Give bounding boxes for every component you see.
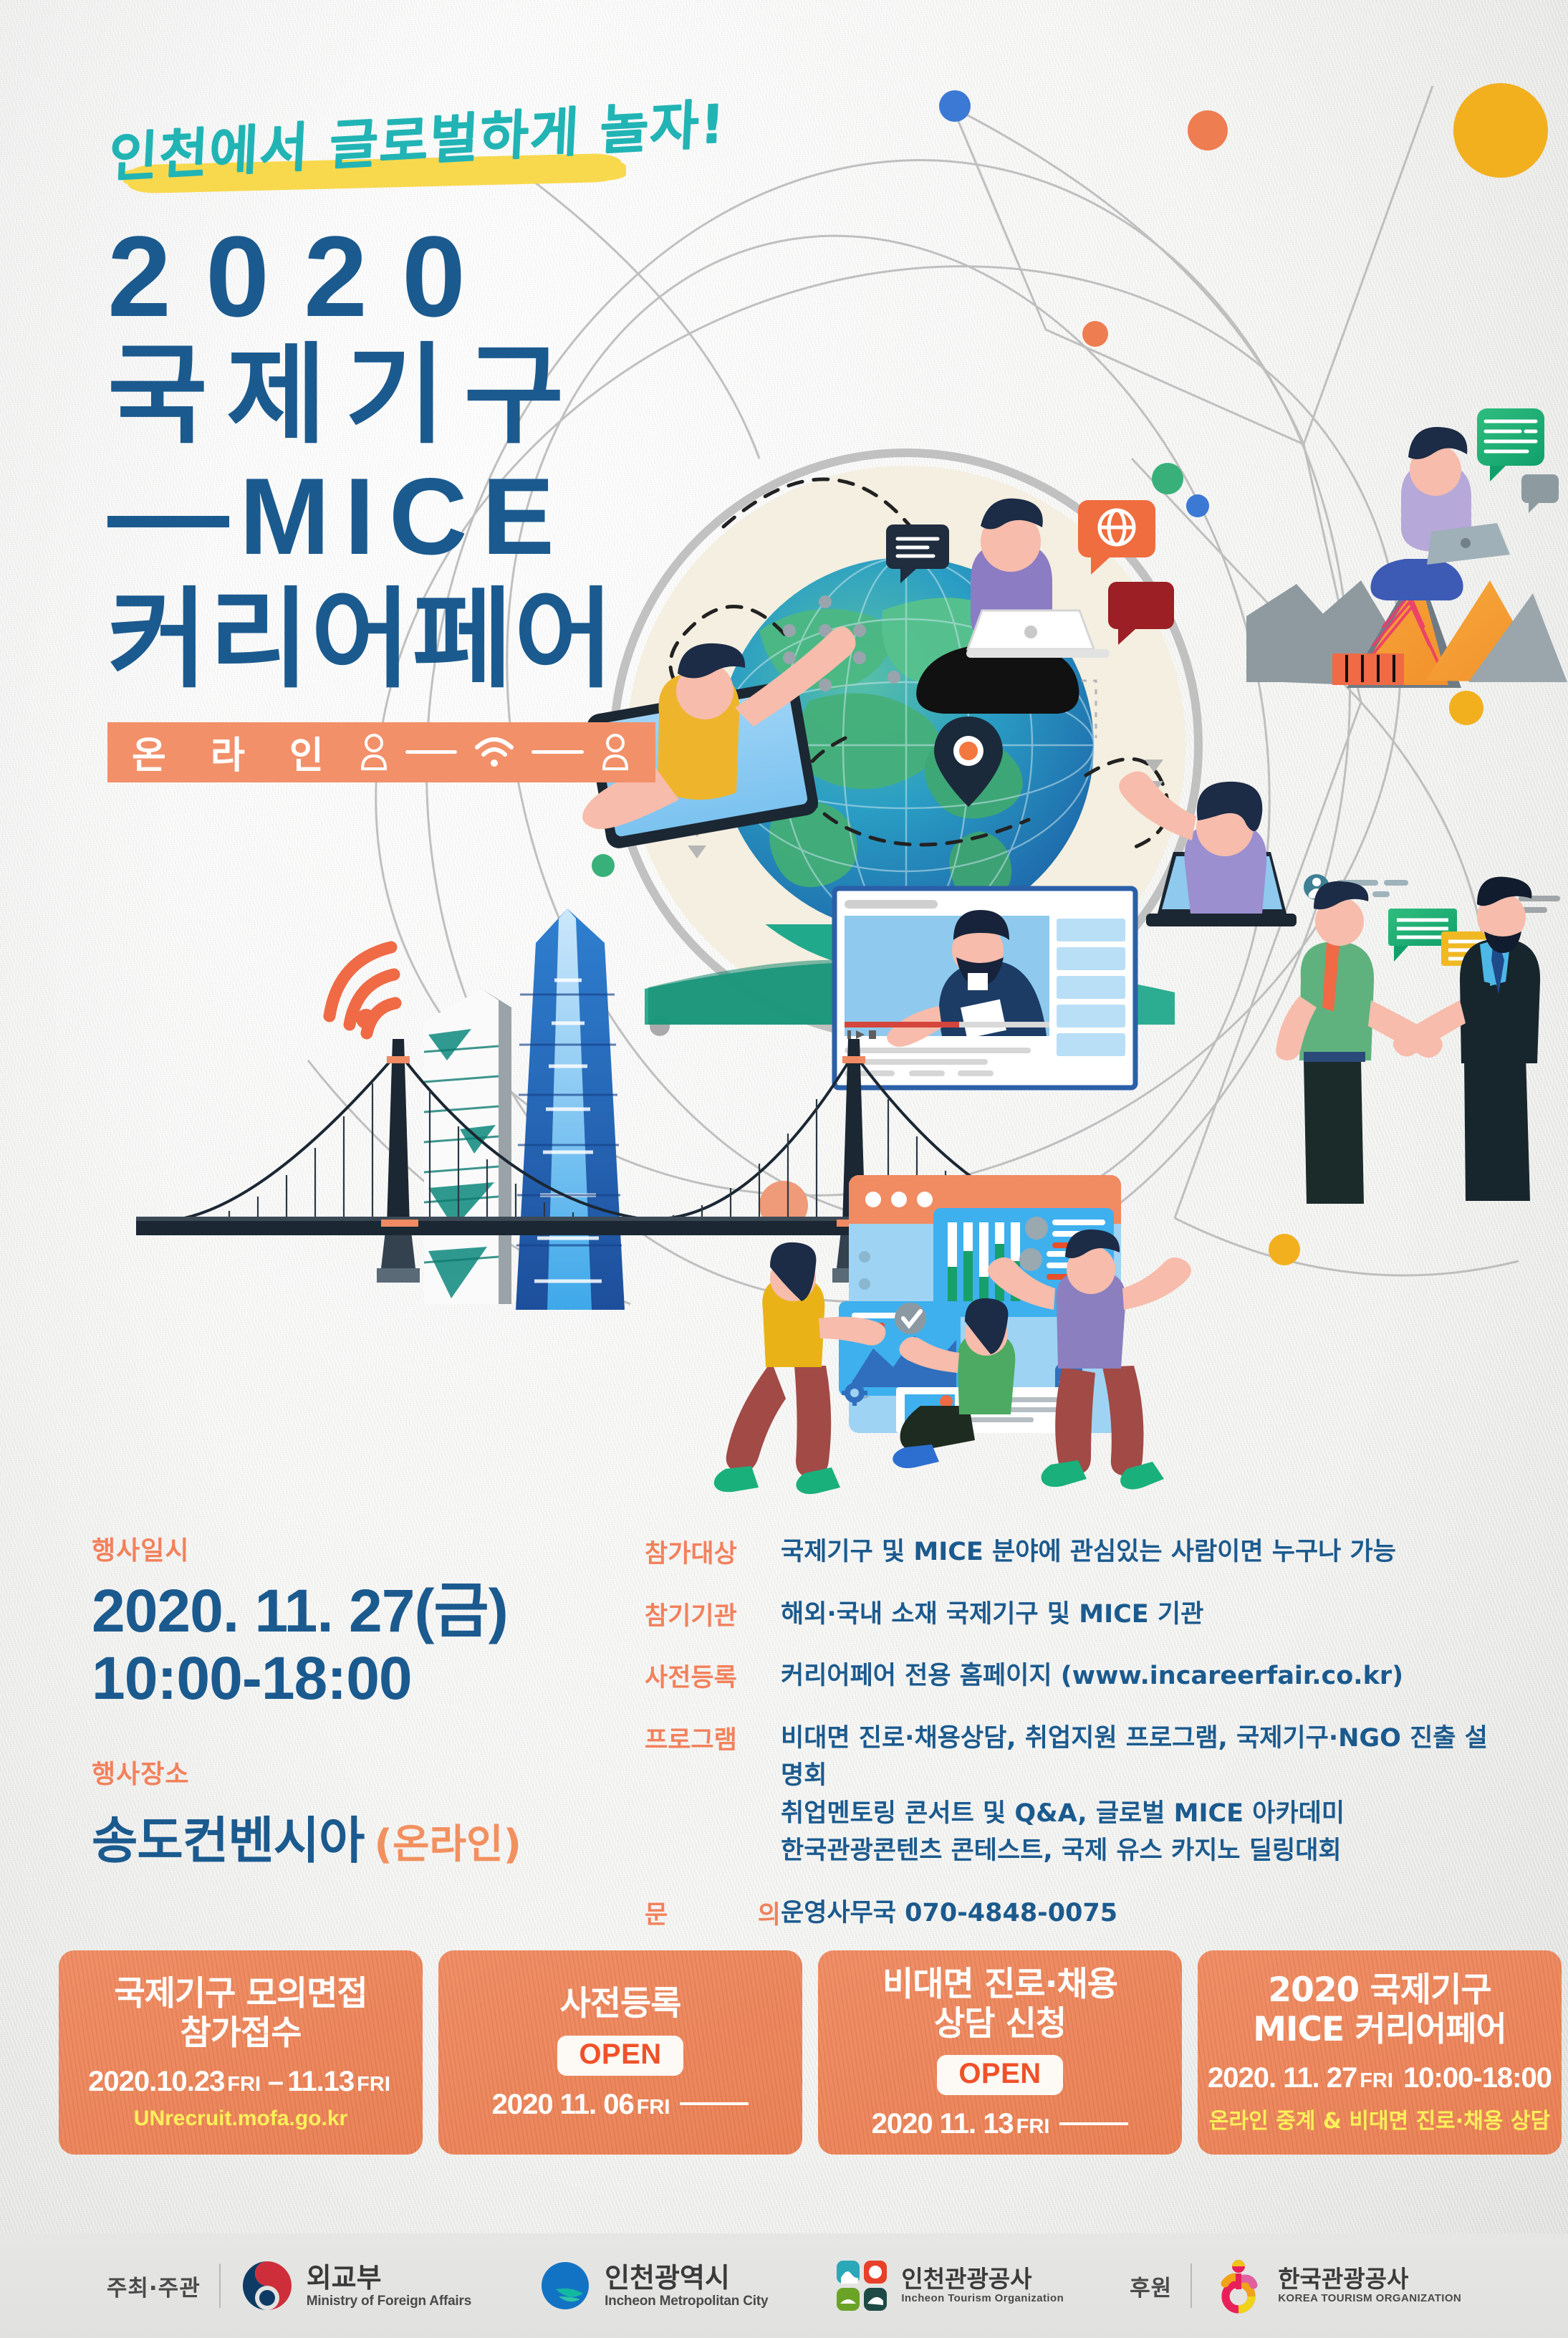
- card-date: 2020 11. 13FRI: [872, 2108, 1129, 2140]
- card-date: 2020. 11. 27FRI 10:00-18:00: [1208, 2062, 1552, 2094]
- cta-card-mock-interview[interactable]: 국제기구 모의면접 참가접수 2020.10.23FRI–11.13FRI UN…: [59, 1950, 423, 2155]
- card-note: 온라인 중계 & 비대면 진로·채용 상담: [1209, 2103, 1550, 2135]
- card-date-start: 2020 11. 06: [492, 2089, 634, 2120]
- card-date-dash: –: [268, 2066, 283, 2097]
- logo-text-mofa: 외교부 Ministry of Foreign Affairs: [307, 2263, 471, 2309]
- logo-kto: 한국관광공사 KOREA TOURISM ORGANIZATION: [1211, 2258, 1461, 2314]
- online-badge-label: 온 라 인: [132, 725, 340, 779]
- title-mice: MICE: [239, 458, 569, 575]
- footer-divider: [1191, 2263, 1192, 2308]
- card-title-line1: 비대면 진로·채용: [882, 1965, 1117, 2004]
- card-title-line2: 참가접수: [181, 2013, 302, 2053]
- detail-row: 사전등록 커리어페어 전용 홈페이지 (www.incareerfair.co.…: [645, 1657, 1504, 1695]
- card-date-start-day: FRI: [1360, 2069, 1393, 2092]
- event-venue-mode: (온라인): [374, 1812, 521, 1870]
- logo-name-ko: 외교부: [307, 2263, 471, 2294]
- headline-block: 인천에서 글로벌하게 놀자! 2020 국제기구 MICE 커리어페어 온 라 …: [107, 107, 680, 782]
- person-icon: [600, 733, 631, 772]
- detail-label-char: 의: [758, 1894, 781, 1932]
- logo-mofa: 외교부 Ministry of Foreign Affairs: [239, 2258, 471, 2314]
- cta-card-career-consult[interactable]: 비대면 진로·채용 상담 신청 OPEN 2020 11. 13FRI: [818, 1950, 1182, 2155]
- card-title: 2020 국제기구 MICE 커리어페어: [1253, 1970, 1506, 2050]
- person-icon: [358, 733, 390, 772]
- tagline-wrap: 인천에서 글로벌하게 놀자!: [107, 107, 680, 201]
- card-title-line1: 국제기구 모의면접: [114, 1974, 367, 2013]
- card-title-line2: MICE 커리어페어: [1253, 2010, 1506, 2049]
- event-venue-label: 행사장소: [92, 1753, 521, 1791]
- footer-sponsor-group: 후원 한국관광공사 KOREA TOURISM ORGAN: [1130, 2258, 1461, 2314]
- card-date-rule: [680, 2102, 749, 2105]
- connection-line-left: [405, 750, 458, 754]
- wifi-icon: [473, 736, 516, 769]
- logo-name-ko: 인천광역시: [605, 2263, 768, 2294]
- title-dash-rule: [107, 516, 229, 527]
- card-date-rule: [1059, 2122, 1128, 2125]
- logo-name-en: Incheon Metropolitan City: [605, 2294, 768, 2309]
- card-date: 2020 11. 06FRI: [492, 2089, 749, 2121]
- title-mice-row: MICE: [107, 458, 680, 575]
- logo-name-en: Ministry of Foreign Affairs: [307, 2294, 471, 2309]
- detail-value-line: 한국관광콘텐츠 콘테스트, 국제 유스 카지노 딜링대회: [781, 1832, 1504, 1870]
- logo-text-incheon-tourism: 인천관광공사 Incheon Tourism Organization: [901, 2266, 1064, 2305]
- title-korean-line2: 커리어페어: [107, 579, 680, 701]
- card-date-end: 11.13: [287, 2066, 354, 2097]
- detail-label: 참기기관: [645, 1596, 781, 1634]
- online-badge-bar: 온 라 인: [107, 722, 655, 782]
- card-date-start: 2020 11. 13: [872, 2108, 1014, 2140]
- logo-name-en: KOREA TOURISM ORGANIZATION: [1278, 2293, 1461, 2305]
- event-date-line1: 2020. 11. 27(금): [92, 1577, 521, 1644]
- card-date-start-day: FRI: [637, 2096, 670, 2119]
- card-title: 비대면 진로·채용 상담 신청: [882, 1965, 1117, 2044]
- detail-label: 참가대상: [645, 1533, 781, 1571]
- card-title-line1: 2020 국제기구: [1268, 1970, 1491, 2010]
- event-venue-name: 송도컨벤시아: [92, 1801, 364, 1873]
- logo-name-ko: 한국관광공사: [1278, 2266, 1461, 2293]
- logo-text-incheon-city: 인천광역시 Incheon Metropolitan City: [605, 2263, 768, 2309]
- cta-card-main-event[interactable]: 2020 국제기구 MICE 커리어페어 2020. 11. 27FRI 10:…: [1198, 1950, 1562, 2155]
- svg-text:</>: </>: [1059, 1376, 1079, 1389]
- card-title-line1: 사전등록: [560, 1984, 681, 2023]
- detail-value: 해외·국내 소재 국제기구 및 MICE 기관: [781, 1596, 1203, 1634]
- card-title-line2: 상담 신청: [934, 2004, 1066, 2044]
- incheon-tourism-icon: [834, 2258, 890, 2314]
- detail-label: 프로그램: [645, 1720, 781, 1870]
- card-title: 국제기구 모의면접 참가접수: [114, 1974, 367, 2054]
- poster-canvas: </>: [0, 0, 1568, 2338]
- footer-host-label: 주최·주관: [107, 2270, 201, 2302]
- status-badge-open: OPEN: [937, 2055, 1062, 2095]
- footer-sponsor-label: 후원: [1130, 2270, 1172, 2302]
- card-date-start: 2020. 11. 27: [1208, 2062, 1357, 2094]
- incheon-city-icon: [537, 2258, 593, 2314]
- detail-value: 비대면 진로·채용상담, 취업지원 프로그램, 국제기구·NGO 진출 설명회 …: [781, 1720, 1504, 1870]
- footer-host-group: 주최·주관 외교부 Ministry of Foreign Affairs: [107, 2258, 471, 2314]
- card-date-start-day: FRI: [1016, 2115, 1050, 2138]
- title-block: 2020 국제기구 MICE 커리어페어: [107, 218, 680, 701]
- logo-text-kto: 한국관광공사 KOREA TOURISM ORGANIZATION: [1278, 2266, 1461, 2305]
- logo-incheon-city: 인천광역시 Incheon Metropolitan City: [537, 2258, 768, 2314]
- logo-incheon-tourism: 인천관광공사 Incheon Tourism Organization: [834, 2258, 1064, 2314]
- detail-row: 참기기관 해외·국내 소재 국제기구 및 MICE 기관: [645, 1596, 1504, 1634]
- detail-value: 운영사무국 070-4848-0075: [781, 1894, 1117, 1932]
- connection-line-right: [532, 750, 584, 754]
- detail-value: 커리어페어 전용 홈페이지 (www.incareerfair.co.kr): [781, 1657, 1403, 1695]
- detail-label-char: 문: [645, 1894, 668, 1932]
- footer-logo-bar: 주최·주관 외교부 Ministry of Foreign Affairs: [0, 2233, 1568, 2338]
- card-date: 2020.10.23FRI–11.13FRI: [88, 2066, 393, 2098]
- online-badge-icons: [358, 733, 631, 772]
- title-korean-line1: 국제기구: [107, 335, 680, 456]
- kto-person-icon: [1211, 2258, 1266, 2314]
- card-date-start: 2020.10.23: [88, 2066, 224, 2097]
- detail-label: 문 의: [645, 1894, 781, 1932]
- card-date-end-day: FRI: [357, 2073, 390, 2096]
- event-date-line2: 10:00-18:00: [92, 1644, 521, 1712]
- event-info-right: 참가대상 국제기구 및 MICE 분야에 관심있는 사람이면 누구나 가능 참기…: [645, 1533, 1504, 1956]
- detail-row: 프로그램 비대면 진로·채용상담, 취업지원 프로그램, 국제기구·NGO 진출…: [645, 1720, 1504, 1870]
- mofa-taegeuk-icon: [239, 2258, 295, 2314]
- cta-card-row: 국제기구 모의면접 참가접수 2020.10.23FRI–11.13FRI UN…: [59, 1950, 1562, 2155]
- card-title: 사전등록: [560, 1984, 681, 2023]
- event-venue-row: 송도컨벤시아 (온라인): [92, 1801, 521, 1873]
- event-info-left: 행사일시 2020. 11. 27(금) 10:00-18:00 행사장소 송도…: [92, 1530, 521, 1873]
- cta-card-preregistration[interactable]: 사전등록 OPEN 2020 11. 06FRI: [438, 1950, 802, 2155]
- status-badge-open: OPEN: [557, 2036, 683, 2076]
- event-date-label: 행사일시: [92, 1530, 521, 1567]
- footer-divider: [219, 2263, 221, 2308]
- title-year: 2020: [107, 218, 680, 335]
- detail-row: 문 의 운영사무국 070-4848-0075: [645, 1894, 1504, 1932]
- card-date-time: 10:00-18:00: [1403, 2062, 1552, 2094]
- detail-label: 사전등록: [645, 1657, 781, 1695]
- card-date-start-day: FRI: [227, 2073, 261, 2096]
- detail-row: 참가대상 국제기구 및 MICE 분야에 관심있는 사람이면 누구나 가능: [645, 1533, 1504, 1571]
- detail-value-line: 취업멘토링 콘서트 및 Q&A, 글로벌 MICE 아카데미: [781, 1795, 1504, 1833]
- logo-name-en: Incheon Tourism Organization: [901, 2293, 1064, 2305]
- card-link-url[interactable]: UNrecruit.mofa.go.kr: [134, 2107, 347, 2131]
- detail-value: 국제기구 및 MICE 분야에 관심있는 사람이면 누구나 가능: [781, 1533, 1396, 1571]
- logo-name-ko: 인천관광공사: [901, 2266, 1064, 2293]
- detail-value-line: 비대면 진로·채용상담, 취업지원 프로그램, 국제기구·NGO 진출 설명회: [781, 1720, 1504, 1795]
